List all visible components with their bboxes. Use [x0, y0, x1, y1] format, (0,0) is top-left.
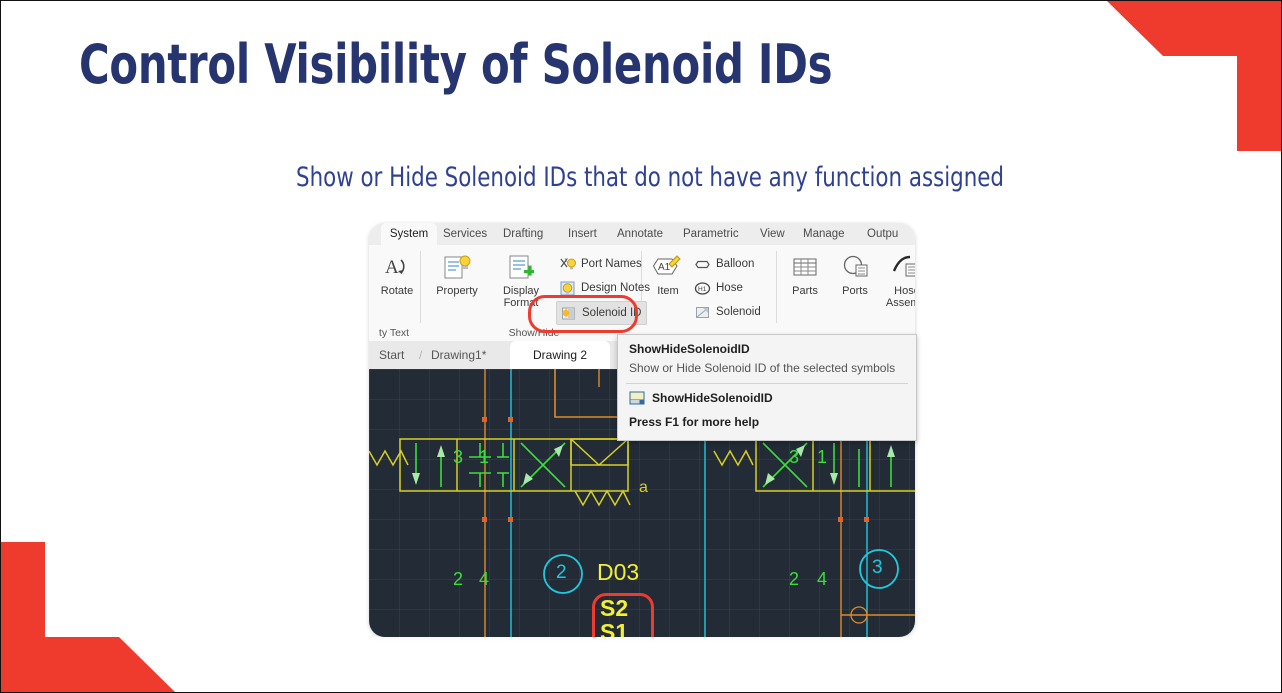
svg-text:A: A [385, 257, 399, 278]
ribbon-tab-strip: System Services Drafting Insert Annotate… [369, 223, 915, 245]
ribbon-tab-system[interactable]: System [381, 223, 437, 245]
property-label: Property [425, 285, 489, 297]
ports-label: Ports [830, 285, 880, 297]
page-title: Control Visibility of Solenoid IDs [79, 33, 832, 96]
display-format-icon [490, 251, 552, 285]
tooltip-divider [626, 383, 908, 384]
display-label: Display [490, 285, 552, 297]
parts-table-icon [781, 251, 829, 285]
port-label-3-left: 3 [453, 447, 463, 468]
property-button[interactable]: Property [425, 251, 489, 297]
group-label-show-hide: Show/Hide [474, 327, 594, 339]
hose-icon: H1 [694, 280, 711, 297]
red-corner-bottom-left [0, 542, 197, 692]
size-code-d03: D03 [597, 559, 639, 586]
ribbon-tab-insert[interactable]: Insert [568, 223, 597, 245]
rotate-label: Rotate [369, 285, 425, 297]
parts-button[interactable]: Parts [781, 251, 829, 297]
doc-tab-separator: / [419, 341, 422, 369]
slide-frame: Control Visibility of Solenoid IDs Show … [0, 0, 1282, 693]
port-label-1-left: 1 [479, 447, 489, 468]
ribbon-tab-output[interactable]: Outpu [867, 223, 898, 245]
callout-number-3: 3 [872, 557, 883, 579]
item-edit-icon: A1 [645, 251, 691, 285]
balloon-label: Balloon [716, 258, 754, 270]
solenoid-id-button[interactable]: Solenoid ID [556, 301, 647, 325]
ports-button[interactable]: Ports [830, 251, 880, 297]
hose-assembly-button[interactable]: Hose Assembl [879, 251, 915, 309]
ports-icon [830, 251, 880, 285]
svg-text:H1: H1 [698, 286, 707, 293]
port-label-2-right: 2 [789, 569, 799, 590]
command-icon [629, 391, 645, 405]
ribbon-tab-services[interactable]: Services [443, 223, 487, 245]
solenoid-label: Solenoid [716, 306, 761, 318]
format-label: Format [490, 297, 552, 309]
doc-tab-drawing1[interactable]: Drawing1* [431, 341, 486, 369]
port-label-3-right: 3 [789, 447, 799, 468]
port-names-label: Port Names [581, 258, 642, 270]
hose-label2: Hose [879, 285, 915, 297]
port-label-4-right: 4 [817, 569, 827, 590]
ribbon: System Services Drafting Insert Annotate… [369, 223, 915, 341]
port-names-icon: Y [559, 256, 576, 273]
item-label: Item [645, 285, 691, 297]
balloon-icon [694, 256, 711, 273]
doc-tab-start[interactable]: Start [379, 341, 404, 369]
tooltip-help: Press F1 for more help [629, 415, 759, 429]
solenoid-id-s1: S1 [600, 619, 628, 637]
design-notes-label: Design Notes [581, 282, 650, 294]
ribbon-tab-parametric[interactable]: Parametric [683, 223, 739, 245]
solenoid-id-label: Solenoid ID [582, 307, 641, 319]
solenoid-icon [694, 304, 711, 321]
ribbon-body: A Rotate [369, 245, 915, 341]
ribbon-tab-drafting[interactable]: Drafting [503, 223, 543, 245]
group-label-property-text: ty Text [369, 327, 421, 339]
callout-number-2: 2 [556, 562, 567, 584]
solenoid-id-icon [560, 305, 577, 322]
display-format-button[interactable]: Display Format [490, 251, 552, 309]
port-names-button[interactable]: Y Port Names [559, 253, 642, 275]
port-label-1-right: 1 [817, 447, 827, 468]
page-subtitle: Show or Hide Solenoid IDs that do not ha… [296, 162, 1004, 193]
design-notes-icon [559, 280, 576, 297]
command-tooltip: ShowHideSolenoidID Show or Hide Solenoid… [617, 334, 917, 441]
ribbon-tab-view[interactable]: View [760, 223, 785, 245]
property-lightbulb-icon [425, 251, 489, 285]
ribbon-group-divider [776, 251, 777, 323]
rotate-button[interactable]: A Rotate [369, 251, 425, 297]
port-label-4-left: 4 [479, 569, 489, 590]
tooltip-title: ShowHideSolenoidID [629, 342, 750, 356]
parts-label: Parts [781, 285, 829, 297]
item-button[interactable]: A1 Item [645, 251, 691, 297]
balloon-button[interactable]: Balloon [694, 253, 754, 275]
hose-label: Hose [716, 282, 743, 294]
doc-tab-drawing2[interactable]: Drawing 2 [510, 341, 610, 369]
solenoid-id-s2: S2 [600, 595, 628, 622]
solenoid-button[interactable]: Solenoid [694, 301, 761, 323]
tooltip-description: Show or Hide Solenoid ID of the selected… [629, 361, 895, 375]
tooltip-command: ShowHideSolenoidID [652, 391, 773, 405]
hose-button[interactable]: H1 Hose [694, 277, 743, 299]
port-label-2-left: 2 [453, 569, 463, 590]
screenshot-reflection: 2 3 D03 [369, 637, 915, 693]
hose-assembly-icon [879, 251, 915, 285]
design-notes-button[interactable]: Design Notes [559, 277, 650, 299]
assembly-label: Assembl [879, 297, 915, 309]
rotate-text-icon: A [369, 251, 425, 285]
reflection-fade [369, 637, 915, 693]
actuator-label-a: a [639, 479, 648, 497]
ribbon-tab-annotate[interactable]: Annotate [617, 223, 663, 245]
ribbon-tab-manage[interactable]: Manage [803, 223, 845, 245]
red-corner-top-right [1085, 1, 1282, 151]
